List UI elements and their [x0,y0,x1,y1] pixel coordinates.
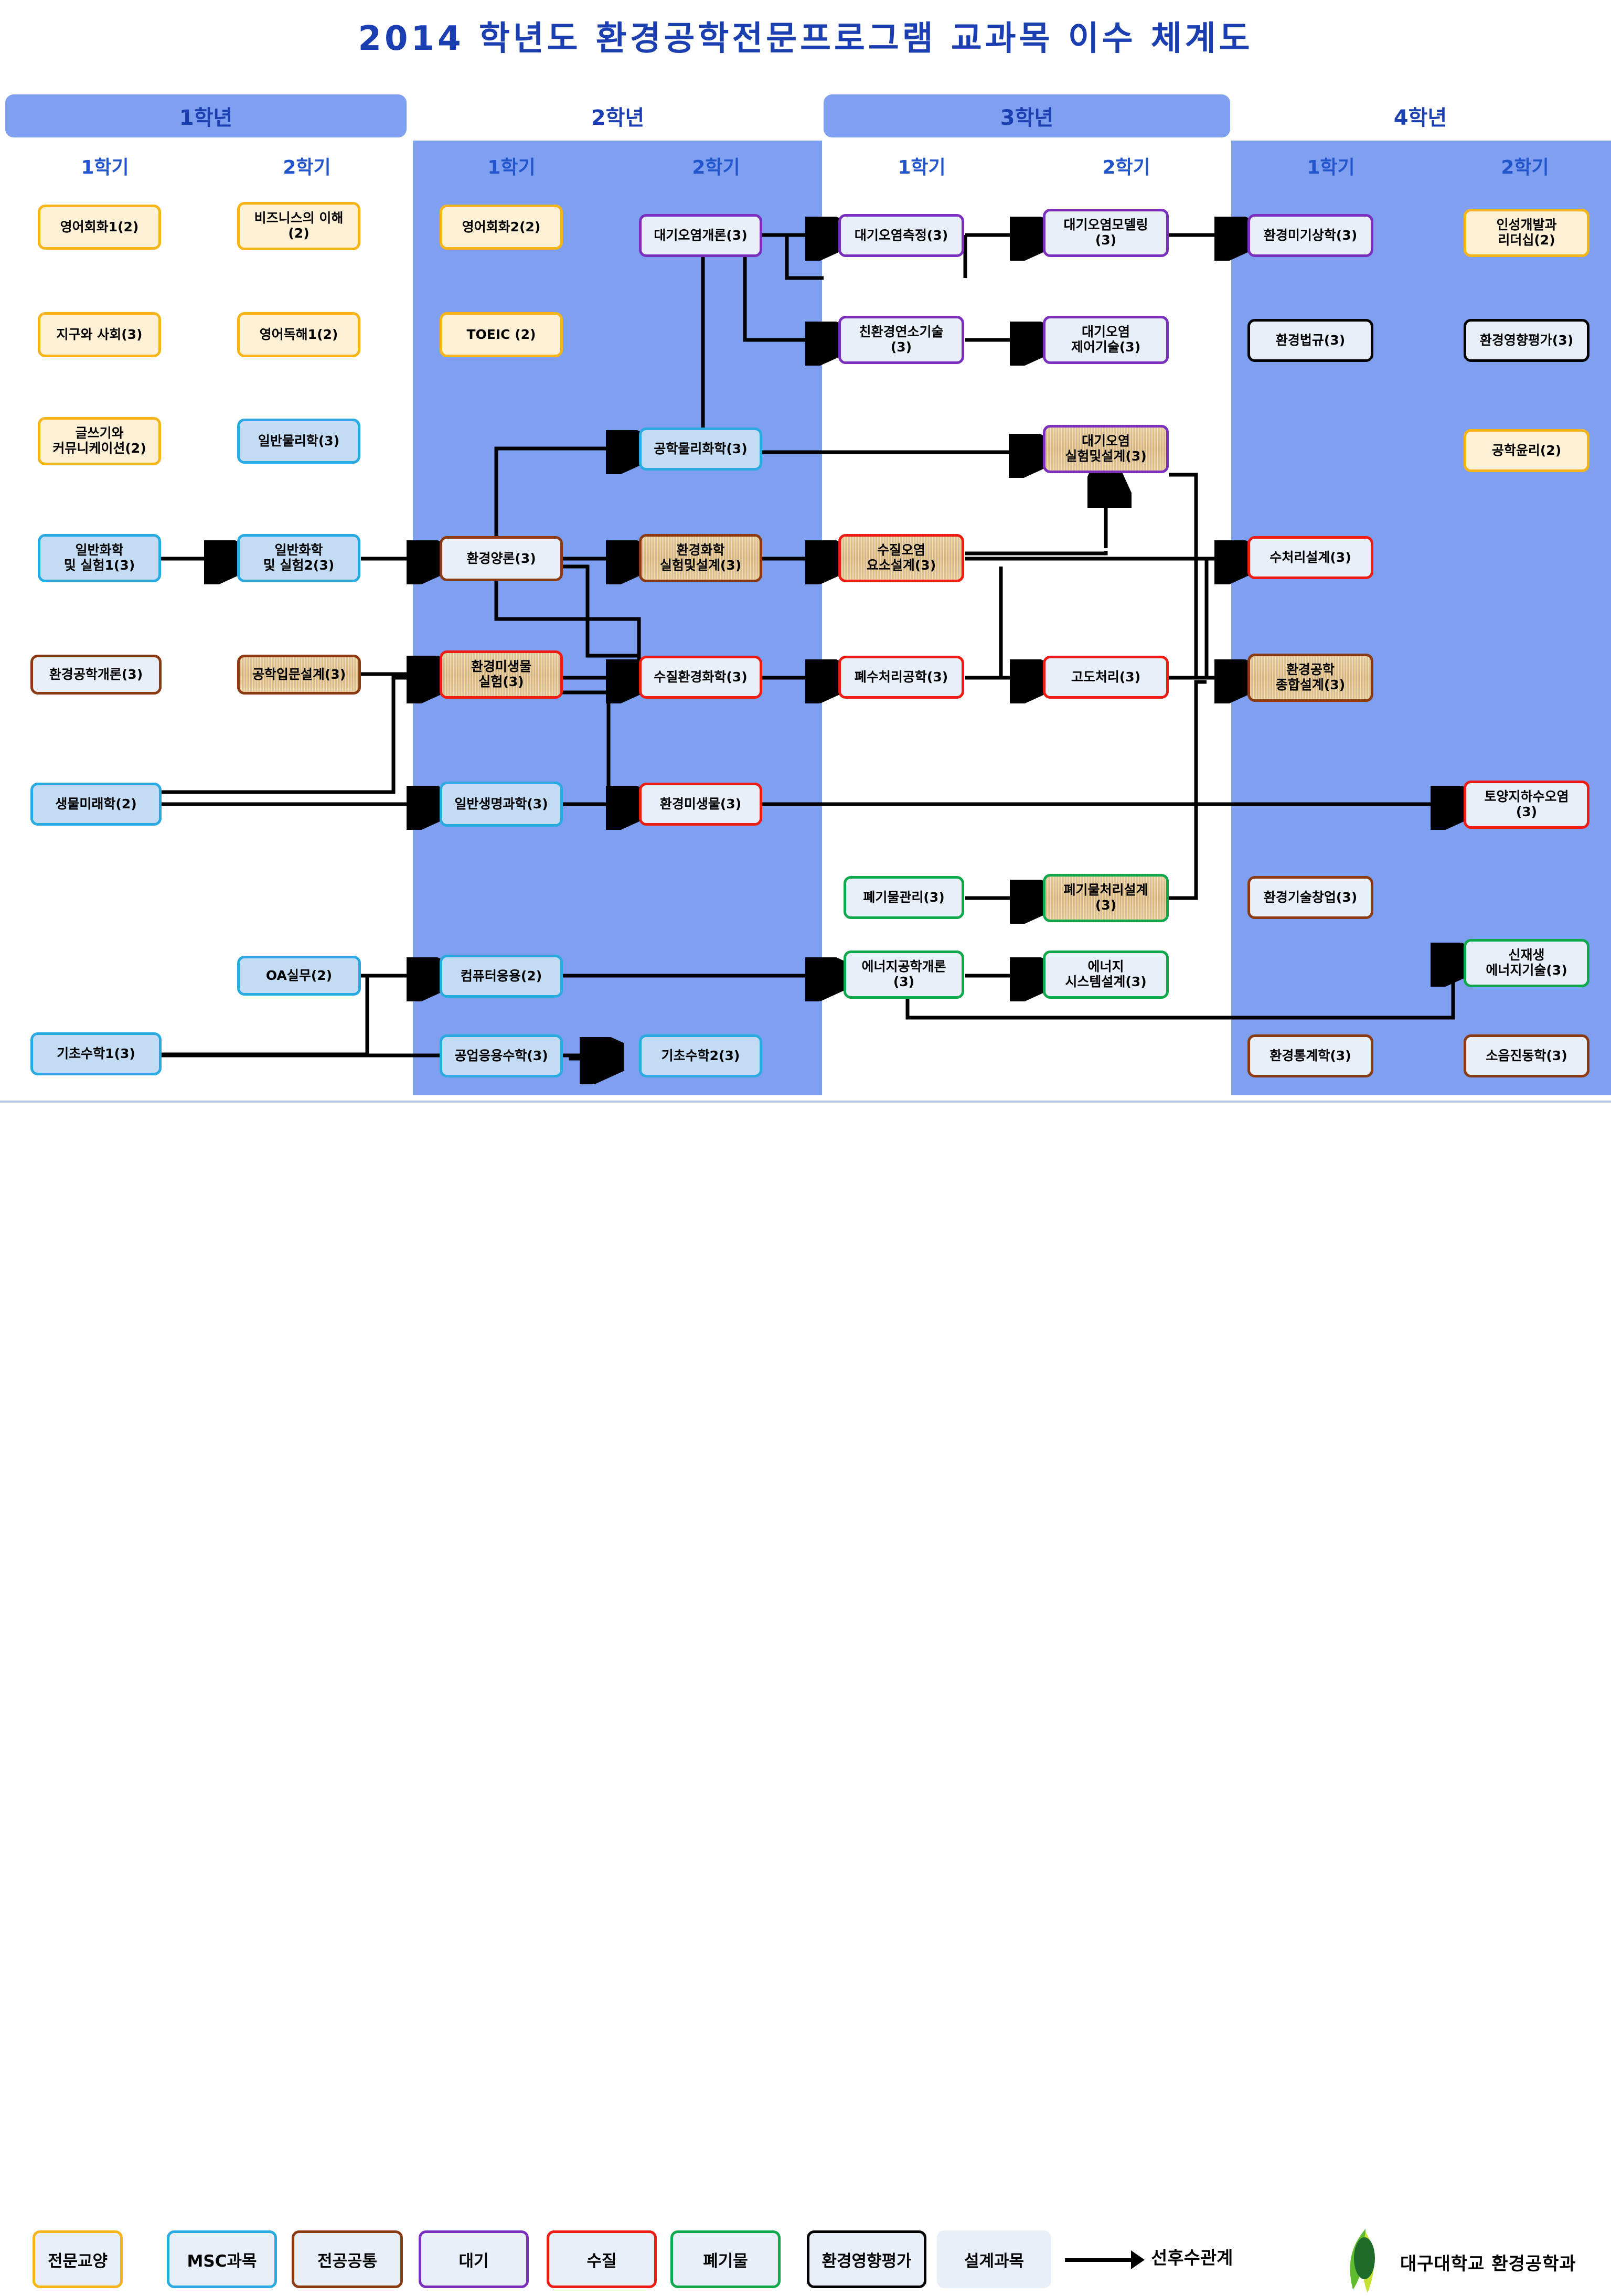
year-band-3: 3학년 [824,94,1230,137]
page-title: 2014 학년도 환경공학전문프로그램 교과목 이수 체계도 [0,12,1611,60]
course-node[interactable]: 일반화학 및 실험1(3) [38,534,161,582]
column-shade-year2 [413,141,822,1095]
course-node[interactable]: 수질오염 요소설계(3) [838,534,964,582]
legend-arrow-label: 선후수관계 [1151,2244,1233,2269]
brand-text: 대구대학교 환경공학과 [1400,2249,1576,2275]
course-node[interactable]: 환경미기상학(3) [1247,214,1373,257]
semester-head-3: 1학기 [414,152,609,180]
course-node[interactable]: 수질환경화학(3) [639,656,762,699]
curriculum-flowchart: 2014 학년도 환경공학전문프로그램 교과목 이수 체계도 1학년 2학년 3… [0,0,1611,1208]
course-node[interactable]: 대기오염측정(3) [838,214,964,257]
course-node[interactable]: 환경미생물(3) [639,783,762,826]
legend: 전문교양 MSC과목 전공공통 대기 수질 폐기물 환경영향평가 설계과목 선후… [0,1108,1611,1208]
course-node[interactable]: 공업응용수학(3) [440,1034,563,1077]
course-node[interactable]: 에너지공학개론 (3) [844,951,964,999]
course-node[interactable]: 소음진동학(3) [1464,1034,1589,1077]
course-node[interactable]: 환경공학개론(3) [30,655,162,695]
year-band-2-label: 2학년 [591,101,644,131]
year-band-1: 1학년 [5,94,407,137]
legend-item-design[interactable]: 설계과목 [937,2230,1051,2288]
course-node[interactable]: 인성개발과 리더십(2) [1464,209,1589,257]
course-node[interactable]: 영어회화2(2) [440,205,563,250]
course-node[interactable]: 글쓰기와 커뮤니케이션(2) [38,417,161,465]
course-node[interactable]: 대기오염 실험및설계(3) [1043,425,1169,473]
course-node[interactable]: 환경화학 실험및설계(3) [639,534,762,582]
year-band-2: 2학년 [414,94,821,137]
legend-divider [0,1101,1611,1103]
course-node[interactable]: 영어독해1(2) [237,312,360,357]
course-node[interactable]: 대기오염 제어기술(3) [1043,316,1169,364]
semester-head-2: 2학기 [210,152,404,180]
course-node[interactable]: 대기오염모델링 (3) [1043,209,1169,257]
year-band-4: 4학년 [1233,94,1608,137]
course-node[interactable]: 폐기물처리설계 (3) [1043,874,1169,922]
course-node[interactable]: 공학입문설계(3) [237,655,361,695]
year-band-3-label: 3학년 [1000,101,1053,131]
course-node[interactable]: 환경통계학(3) [1247,1034,1373,1077]
course-node[interactable]: 신재생 에너지기술(3) [1464,939,1589,987]
course-node[interactable]: 일반물리학(3) [237,419,360,464]
course-node[interactable]: 대기오염개론(3) [639,214,762,257]
year-band-1-label: 1학년 [179,101,232,131]
course-node[interactable]: 생물미래학(2) [30,783,162,826]
course-node[interactable]: 고도처리(3) [1043,656,1169,699]
course-node[interactable]: 일반화학 및 실험2(3) [237,534,360,582]
course-node[interactable]: 환경미생물 실험(3) [440,650,563,699]
semester-head-7: 1학기 [1234,152,1428,180]
legend-arrow-line [1065,2258,1132,2262]
course-node[interactable]: 기초수학2(3) [639,1034,762,1077]
course-node[interactable]: 환경공학 종합설계(3) [1247,654,1373,702]
semester-head-8: 2학기 [1438,152,1611,180]
course-node[interactable]: 환경기술창업(3) [1247,876,1373,919]
legend-arrow-head-icon [1131,2250,1145,2269]
course-node[interactable]: 토양지하수오염 (3) [1464,781,1589,829]
legend-item-pyegi[interactable]: 폐기물 [670,2230,781,2288]
semester-head-4: 2학기 [619,152,813,180]
university-brand: 대구대학교 환경공학과 [1335,2228,1576,2296]
course-node[interactable]: 기초수학1(3) [30,1032,162,1075]
course-node[interactable]: 환경영향평가(3) [1464,319,1589,362]
course-node[interactable]: 폐수처리공학(3) [838,656,964,699]
course-node[interactable]: 비즈니스의 이해 (2) [237,202,360,250]
course-node[interactable]: 지구와 사회(3) [38,312,161,357]
legend-item-sujil[interactable]: 수질 [547,2230,657,2288]
legend-item-msc[interactable]: MSC과목 [167,2230,277,2288]
year-band-4-label: 4학년 [1394,101,1447,131]
course-node[interactable]: 영어회화1(2) [38,205,161,250]
course-node[interactable]: 수처리설계(3) [1247,536,1373,579]
course-node[interactable]: 컴퓨터응용(2) [440,955,563,998]
semester-head-6: 2학기 [1029,152,1223,180]
course-node[interactable]: 에너지 시스템설계(3) [1043,951,1169,999]
course-node[interactable]: 일반생명과학(3) [440,782,563,827]
daegu-university-logo-icon [1335,2228,1393,2296]
course-node[interactable]: TOEIC (2) [440,312,563,357]
course-node[interactable]: 공학윤리(2) [1464,429,1589,472]
course-node[interactable]: 폐기물관리(3) [844,876,964,919]
legend-item-gyoyang[interactable]: 전문교양 [33,2230,123,2288]
course-node[interactable]: 공학물리화학(3) [639,428,762,471]
semester-head-1: 1학기 [8,152,202,180]
legend-item-gongtong[interactable]: 전공공통 [292,2230,403,2288]
course-node[interactable]: 친환경연소기술 (3) [838,316,964,364]
legend-item-daegi[interactable]: 대기 [419,2230,529,2288]
semester-head-5: 1학기 [825,152,1019,180]
course-node[interactable]: 환경법규(3) [1247,319,1373,362]
course-node[interactable]: 환경양론(3) [440,536,563,581]
course-node[interactable]: OA실무(2) [237,956,361,996]
legend-item-youngpy[interactable]: 환경영향평가 [807,2230,926,2288]
